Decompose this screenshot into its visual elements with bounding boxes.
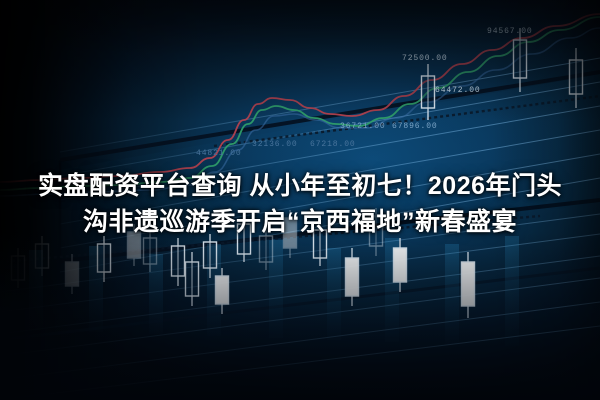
headline-line-1: 实盘配资平台查询 从小年至初七！2026年门头 [0, 168, 600, 204]
banner-canvas: 94567.0072500.0064472.0036721.0067896.00… [0, 0, 600, 400]
headline: 实盘配资平台查询 从小年至初七！2026年门头 沟非遗巡游季开启“京西福地”新春… [0, 168, 600, 240]
headline-line-2: 沟非遗巡游季开启“京西福地”新春盛宴 [0, 204, 600, 240]
